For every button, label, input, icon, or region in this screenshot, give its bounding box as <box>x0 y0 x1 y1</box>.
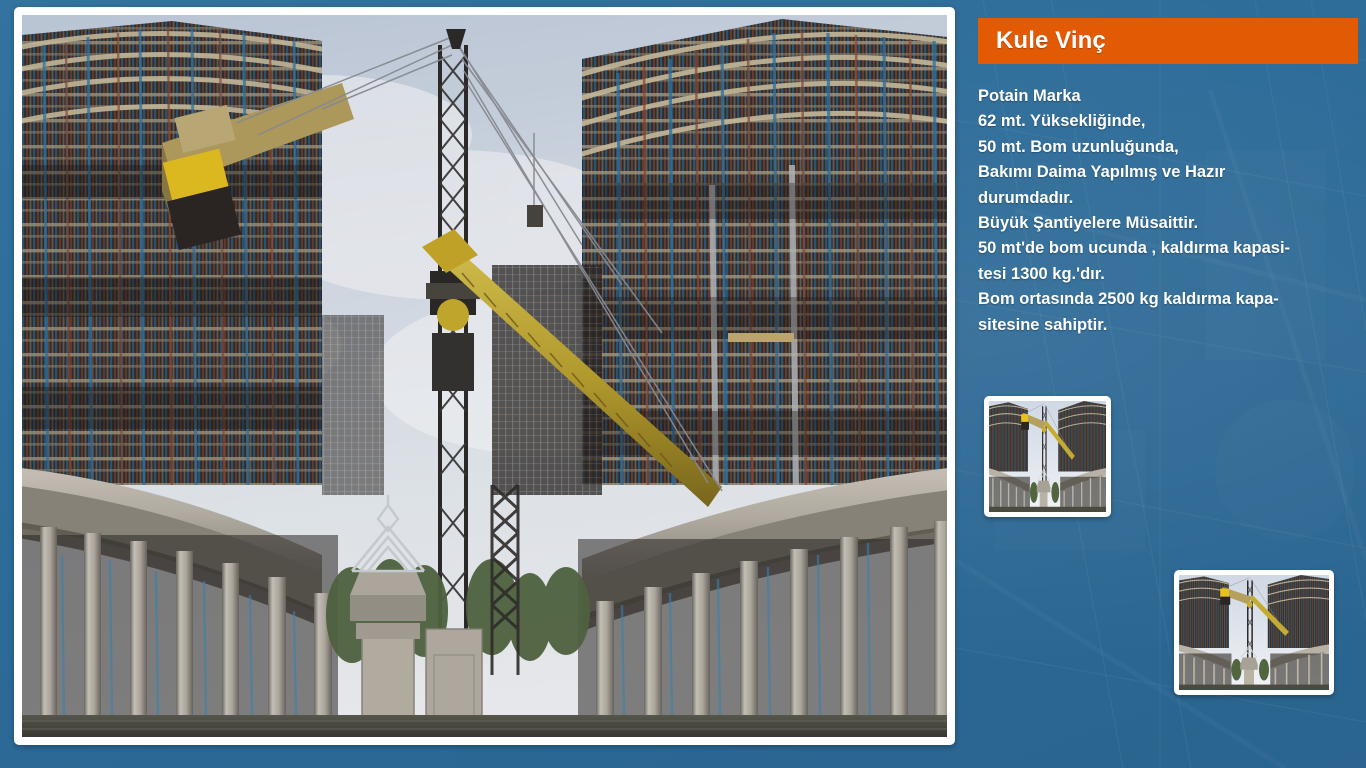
main-photo-card <box>14 7 955 745</box>
spec-line: tesi 1300 kg.'dır. <box>978 262 1360 287</box>
spec-line: Bakımı Daima Yapılmış ve Hazır <box>978 160 1360 185</box>
spec-line: 50 mt'de bom ucunda , kaldırma kapasi- <box>978 236 1360 261</box>
section-title-bar: Kule Vinç <box>978 18 1358 64</box>
thumbnail-1-image[interactable] <box>989 401 1106 512</box>
spec-line: 50 mt. Bom uzunluğunda, <box>978 135 1360 160</box>
spec-line: 62 mt. Yüksekliğinde, <box>978 109 1360 134</box>
spec-line: Potain Marka <box>978 84 1360 109</box>
page-title: Kule Vinç <box>978 27 1106 55</box>
thumbnail-2[interactable] <box>1174 570 1334 695</box>
spec-line: Büyük Şantiyelere Müsaittir. <box>978 211 1360 236</box>
spec-line: durumdadır. <box>978 186 1360 211</box>
thumbnail-2-image[interactable] <box>1179 575 1329 690</box>
spec-line: sitesine sahiptir. <box>978 313 1360 338</box>
main-photo <box>22 15 947 737</box>
thumbnail-1[interactable] <box>984 396 1111 517</box>
slide-root: Kule Vinç Potain Marka 62 mt. Yüksekliği… <box>0 0 1366 768</box>
specification-text: Potain Marka 62 mt. Yüksekliğinde, 50 mt… <box>978 84 1360 338</box>
spec-line: Bom ortasında 2500 kg kaldırma kapa- <box>978 287 1360 312</box>
